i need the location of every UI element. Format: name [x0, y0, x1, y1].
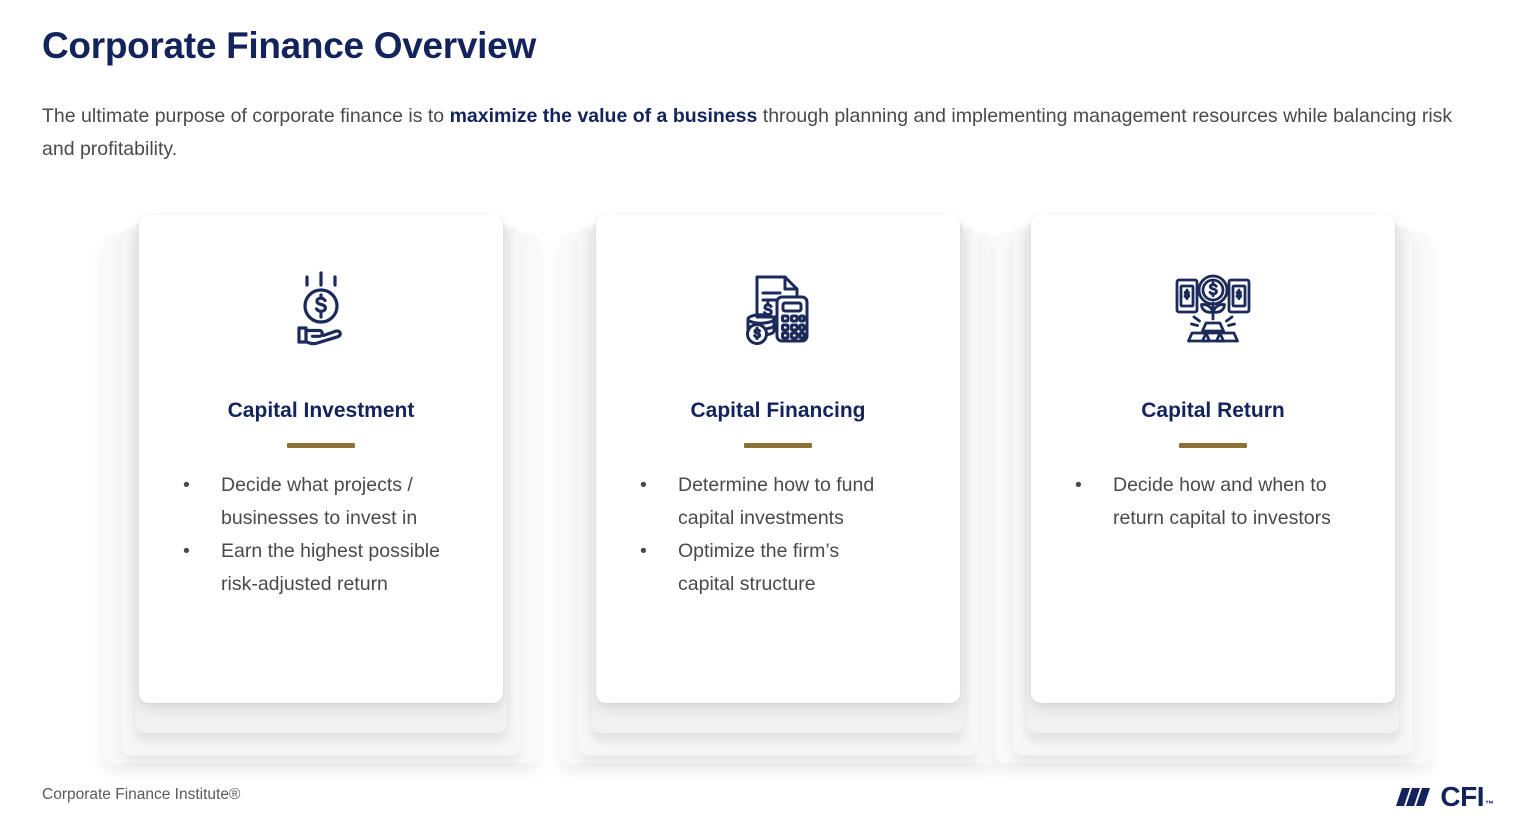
card-capital-return[interactable]: Capital Return • Decide how and when to … — [987, 215, 1439, 775]
card-face[interactable]: Capital Financing • Determine how to fun… — [596, 215, 960, 703]
bullet-text: Optimize the firm’s capital structure — [678, 535, 893, 601]
card-bullet-list: • Determine how to fund capital investme… — [640, 469, 934, 601]
bullet-text: Decide what projects / businesses to inv… — [221, 469, 473, 535]
cfi-logo-trademark: ™ — [1485, 799, 1494, 809]
cards-row: Capital Investment • Decide what project… — [0, 215, 1536, 775]
card-divider — [1179, 443, 1247, 448]
list-item: • Determine how to fund capital investme… — [640, 469, 934, 535]
list-item: • Decide how and when to return capital … — [1075, 469, 1369, 535]
card-face[interactable]: Capital Investment • Decide what project… — [139, 215, 503, 703]
list-item: • Earn the highest possible risk-adjuste… — [183, 535, 477, 601]
hand-holding-dollar-coin-icon — [139, 263, 503, 353]
slide-root: Corporate Finance Overview The ultimate … — [0, 0, 1536, 829]
card-bullet-list: • Decide how and when to return capital … — [1075, 469, 1369, 535]
page-title: Corporate Finance Overview — [42, 22, 536, 70]
card-heading: Capital Return — [1031, 397, 1395, 425]
invoice-calculator-coins-icon — [596, 263, 960, 353]
bullet-marker-icon: • — [1075, 469, 1113, 502]
card-heading: Capital Financing — [596, 397, 960, 425]
card-divider — [287, 443, 355, 448]
list-item: • Optimize the firm’s capital structure — [640, 535, 934, 601]
bullet-marker-icon: • — [640, 535, 678, 568]
bullet-marker-icon: • — [640, 469, 678, 502]
bullet-marker-icon: • — [183, 469, 221, 502]
bullet-text: Decide how and when to return capital to… — [1113, 469, 1365, 535]
footer-attribution: Corporate Finance Institute® — [42, 786, 240, 804]
card-bullet-list: • Decide what projects / businesses to i… — [183, 469, 477, 601]
bullet-marker-icon: • — [183, 535, 221, 568]
cfi-logo-bars-icon — [1393, 785, 1435, 809]
cfi-logo-text: CFI — [1440, 783, 1484, 811]
card-heading: Capital Investment — [139, 397, 503, 425]
page-subtitle: The ultimate purpose of corporate financ… — [42, 100, 1472, 166]
bullet-text: Earn the highest possible risk-adjusted … — [221, 535, 473, 601]
bullet-text: Determine how to fund capital investment… — [678, 469, 893, 535]
cfi-logo: CFI ™ — [1393, 782, 1494, 812]
card-capital-financing[interactable]: Capital Financing • Determine how to fun… — [552, 215, 1004, 775]
subtitle-emphasis: maximize the value of a business — [450, 105, 758, 127]
subtitle-text-lead: The ultimate purpose of corporate financ… — [42, 105, 450, 127]
card-divider — [744, 443, 812, 448]
list-item: • Decide what projects / businesses to i… — [183, 469, 477, 535]
card-face[interactable]: Capital Return • Decide how and when to … — [1031, 215, 1395, 703]
card-capital-investment[interactable]: Capital Investment • Decide what project… — [95, 215, 547, 775]
money-plant-gold-bars-icon — [1031, 263, 1395, 353]
